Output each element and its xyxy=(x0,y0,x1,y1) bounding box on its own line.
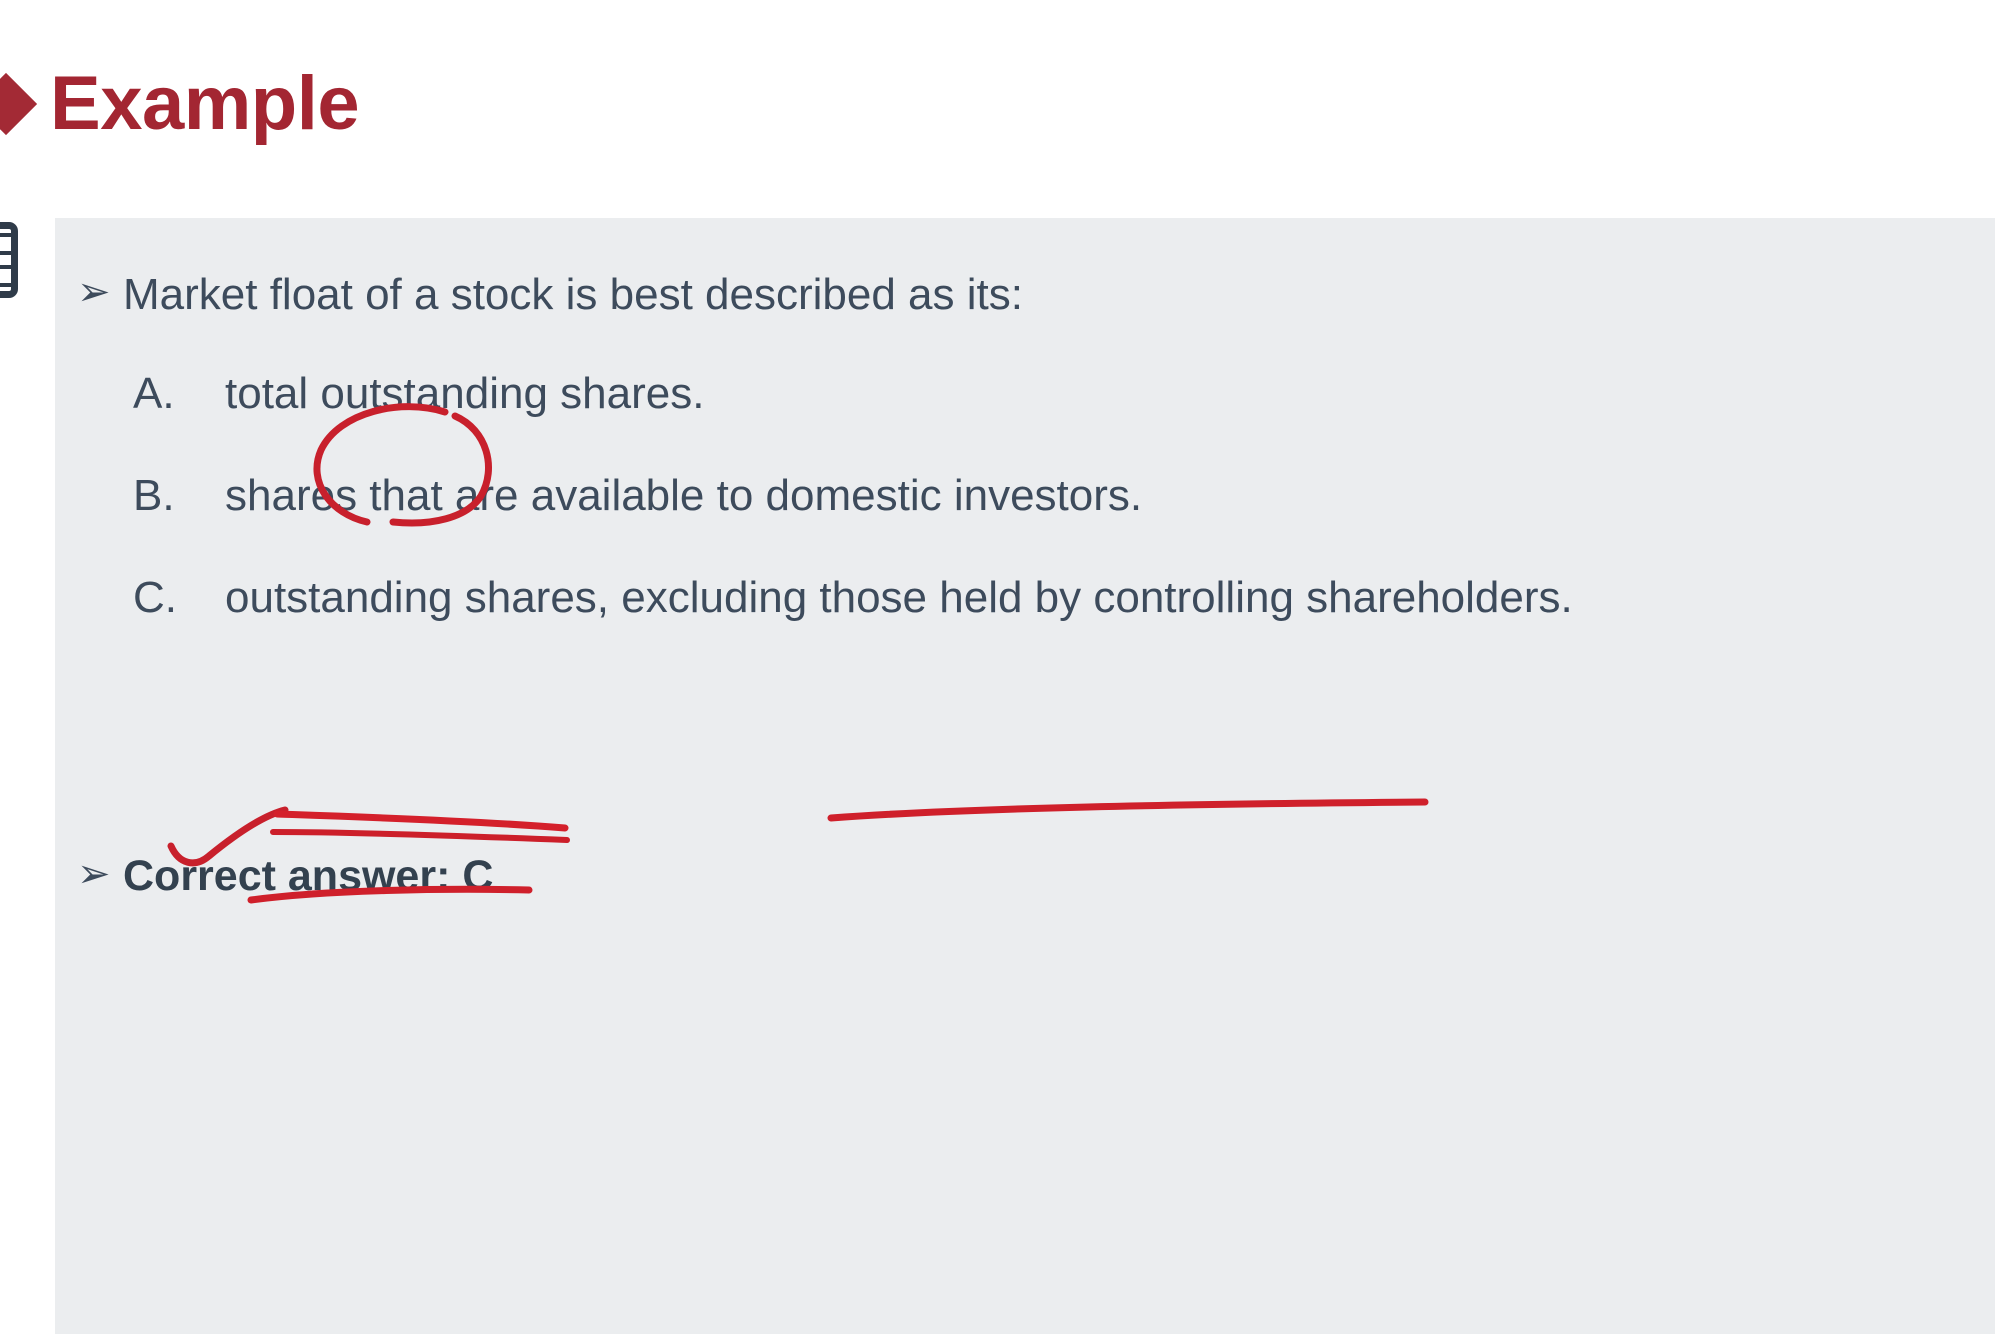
option-a[interactable]: A. total outstanding shares. xyxy=(133,366,704,422)
slide-content-panel: ➢ Market float of a stock is best descri… xyxy=(55,218,1995,1334)
option-c-text: outstanding shares, excluding those held… xyxy=(225,570,1573,626)
option-a-text: total outstanding shares. xyxy=(225,366,704,422)
correct-answer-row: ➢ Correct answer: C xyxy=(77,854,493,899)
option-c-letter: C. xyxy=(133,570,225,626)
slide-title-row: Example xyxy=(0,58,359,150)
diamond-icon xyxy=(0,73,37,135)
option-c[interactable]: C. outstanding shares, excluding those h… xyxy=(133,570,1573,626)
underline-those-held-by-controlling-annotation xyxy=(825,796,1435,836)
option-b-letter: B. xyxy=(133,468,225,524)
option-a-letter: A. xyxy=(133,366,225,422)
slide-panel-icon[interactable] xyxy=(0,222,18,298)
slide-panel-icon-bar-bottom xyxy=(0,265,11,287)
option-b-text: shares that are available to domestic in… xyxy=(225,468,1142,524)
page-title: Example xyxy=(50,66,359,142)
correct-answer-text: Correct answer: C xyxy=(123,854,493,899)
slide-panel-icon-bar-top xyxy=(0,233,11,255)
question-text: Market float of a stock is best describe… xyxy=(123,272,1023,318)
arrow-bullet-icon: ➢ xyxy=(77,272,123,312)
option-b[interactable]: B. shares that are available to domestic… xyxy=(133,468,1142,524)
question-row: ➢ Market float of a stock is best descri… xyxy=(77,272,1023,318)
arrow-bullet-icon: ➢ xyxy=(77,854,123,894)
